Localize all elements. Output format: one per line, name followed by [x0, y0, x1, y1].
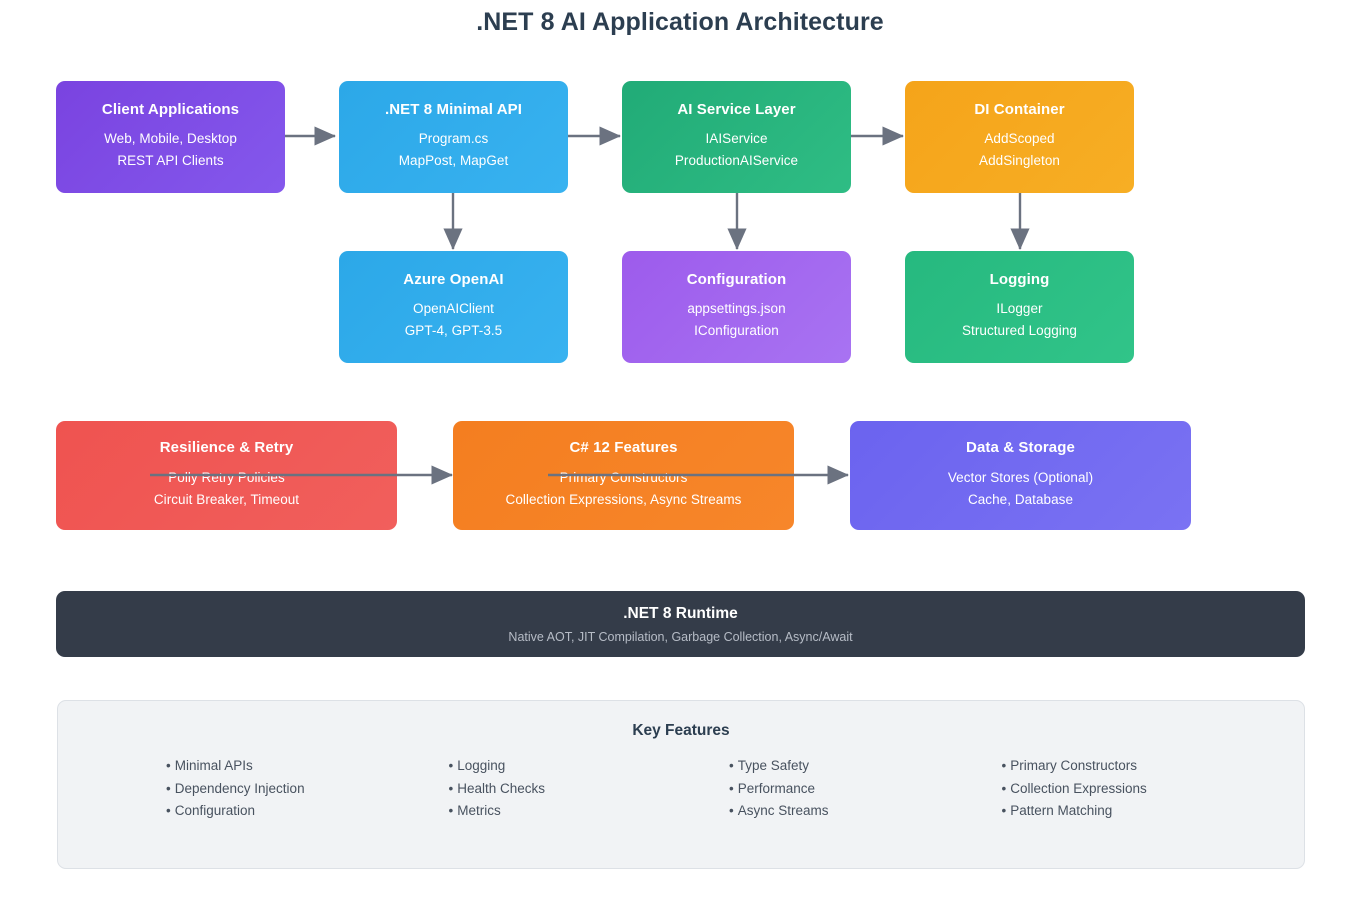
- node-detail-line: Web, Mobile, Desktop: [104, 128, 237, 150]
- feature-item: •Pattern Matching: [1002, 800, 1253, 823]
- node-detail-line: OpenAIClient: [413, 298, 494, 320]
- node-title: Configuration: [687, 272, 787, 289]
- node-title: Data & Storage: [966, 440, 1075, 457]
- node-detail-line: ProductionAIService: [675, 150, 798, 172]
- node-csharp-12-features[interactable]: C# 12 Features Primary Constructors Coll…: [453, 421, 794, 530]
- node-di-container[interactable]: DI Container AddScoped AddSingleton: [905, 81, 1134, 193]
- node-detail-line: IAIService: [705, 128, 767, 150]
- node-data-storage[interactable]: Data & Storage Vector Stores (Optional) …: [850, 421, 1191, 530]
- feature-item: •Configuration: [166, 800, 417, 823]
- node-minimal-api[interactable]: .NET 8 Minimal API Program.cs MapPost, M…: [339, 81, 568, 193]
- feature-label: Configuration: [175, 803, 255, 818]
- bullet-icon: •: [449, 803, 454, 818]
- node-detail-line: Structured Logging: [962, 320, 1077, 342]
- feature-label: Minimal APIs: [175, 758, 253, 773]
- node-detail-line: MapPost, MapGet: [399, 150, 509, 172]
- bullet-icon: •: [449, 781, 454, 796]
- node-detail-line: Cache, Database: [968, 489, 1073, 511]
- feature-label: Logging: [457, 758, 505, 773]
- node-client-applications[interactable]: Client Applications Web, Mobile, Desktop…: [56, 81, 285, 193]
- node-logging[interactable]: Logging ILogger Structured Logging: [905, 251, 1134, 363]
- feature-label: Collection Expressions: [1010, 781, 1147, 796]
- feature-item: •Logging: [449, 755, 700, 778]
- feature-column: •Logging •Health Checks •Metrics: [417, 755, 700, 823]
- feature-item: •Collection Expressions: [1002, 778, 1253, 801]
- bullet-icon: •: [166, 758, 171, 773]
- node-detail-line: Program.cs: [419, 128, 489, 150]
- key-features-panel: Key Features •Minimal APIs •Dependency I…: [57, 700, 1305, 869]
- feature-label: Metrics: [457, 803, 501, 818]
- bullet-icon: •: [729, 781, 734, 796]
- node-detail-line: Collection Expressions, Async Streams: [506, 489, 742, 511]
- node-resilience-retry[interactable]: Resilience & Retry Polly Retry Policies …: [56, 421, 397, 530]
- feature-label: Type Safety: [738, 758, 809, 773]
- bullet-icon: •: [1002, 803, 1007, 818]
- runtime-title: .NET 8 Runtime: [623, 605, 738, 623]
- runtime-bar: .NET 8 Runtime Native AOT, JIT Compilati…: [56, 591, 1305, 657]
- node-title: .NET 8 Minimal API: [385, 102, 522, 119]
- node-detail-line: Vector Stores (Optional): [948, 467, 1093, 489]
- bullet-icon: •: [166, 781, 171, 796]
- architecture-diagram: .NET 8 AI Application Architecture Clien…: [0, 0, 1360, 907]
- feature-column: •Type Safety •Performance •Async Streams: [699, 755, 980, 823]
- feature-item: •Async Streams: [729, 800, 980, 823]
- node-ai-service-layer[interactable]: AI Service Layer IAIService ProductionAI…: [622, 81, 851, 193]
- node-detail-line: ILogger: [996, 298, 1042, 320]
- bullet-icon: •: [729, 758, 734, 773]
- node-detail-line: GPT-4, GPT-3.5: [405, 320, 502, 342]
- feature-label: Dependency Injection: [175, 781, 305, 796]
- feature-item: •Metrics: [449, 800, 700, 823]
- feature-column: •Minimal APIs •Dependency Injection •Con…: [110, 755, 417, 823]
- node-title: Azure OpenAI: [403, 272, 503, 289]
- key-features-title: Key Features: [58, 722, 1304, 740]
- node-title: Client Applications: [102, 102, 239, 119]
- node-title: C# 12 Features: [569, 440, 677, 457]
- runtime-subtitle: Native AOT, JIT Compilation, Garbage Col…: [508, 630, 852, 644]
- node-detail-line: appsettings.json: [687, 298, 785, 320]
- bullet-icon: •: [449, 758, 454, 773]
- bullet-icon: •: [729, 803, 734, 818]
- node-azure-openai[interactable]: Azure OpenAI OpenAIClient GPT-4, GPT-3.5: [339, 251, 568, 363]
- node-detail-line: Primary Constructors: [560, 467, 688, 489]
- feature-label: Performance: [738, 781, 815, 796]
- feature-item: •Type Safety: [729, 755, 980, 778]
- node-detail-line: AddSingleton: [979, 150, 1060, 172]
- node-title: DI Container: [974, 102, 1064, 119]
- feature-item: •Performance: [729, 778, 980, 801]
- node-title: Logging: [990, 272, 1050, 289]
- feature-label: Health Checks: [457, 781, 545, 796]
- key-features-columns: •Minimal APIs •Dependency Injection •Con…: [58, 755, 1304, 823]
- node-detail-line: Polly Retry Policies: [168, 467, 285, 489]
- feature-item: •Primary Constructors: [1002, 755, 1253, 778]
- bullet-icon: •: [166, 803, 171, 818]
- feature-label: Async Streams: [738, 803, 829, 818]
- bullet-icon: •: [1002, 758, 1007, 773]
- node-title: Resilience & Retry: [160, 440, 294, 457]
- feature-column: •Primary Constructors •Collection Expres…: [980, 755, 1253, 823]
- bullet-icon: •: [1002, 781, 1007, 796]
- page-title: .NET 8 AI Application Architecture: [0, 8, 1360, 37]
- feature-item: •Dependency Injection: [166, 778, 417, 801]
- feature-label: Primary Constructors: [1010, 758, 1137, 773]
- node-detail-line: IConfiguration: [694, 320, 779, 342]
- feature-item: •Health Checks: [449, 778, 700, 801]
- node-title: AI Service Layer: [677, 102, 795, 119]
- node-detail-line: REST API Clients: [117, 150, 223, 172]
- feature-item: •Minimal APIs: [166, 755, 417, 778]
- node-detail-line: Circuit Breaker, Timeout: [154, 489, 299, 511]
- feature-label: Pattern Matching: [1010, 803, 1112, 818]
- node-detail-line: AddScoped: [984, 128, 1054, 150]
- node-configuration[interactable]: Configuration appsettings.json IConfigur…: [622, 251, 851, 363]
